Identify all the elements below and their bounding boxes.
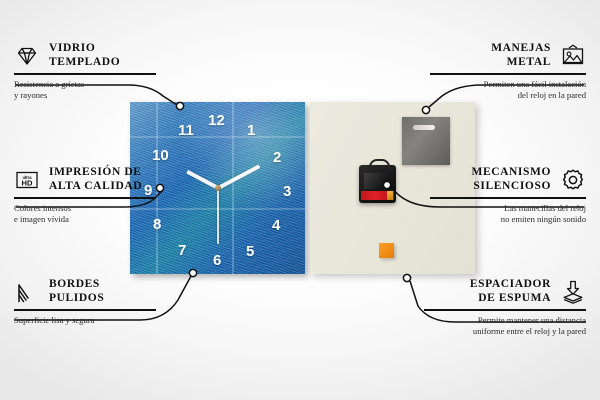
- feature-title: MANEJAS METAL: [491, 42, 551, 69]
- feature-title: IMPRESIÓN DE ALTA CALIDAD: [49, 166, 142, 193]
- feature-rule: [14, 73, 156, 74]
- connector-dot-vidrio-templado: [176, 102, 183, 109]
- feature-rule: [430, 73, 586, 74]
- feature-title: VIDRIO TEMPLADO: [49, 42, 120, 69]
- feature-rule: [430, 197, 586, 198]
- feature-title: BORDES PULIDOS: [49, 278, 104, 305]
- connector-dot-manejas: [422, 106, 429, 113]
- feature-description: Resistencia a grietas y rayones: [14, 79, 164, 102]
- feature-title: MECANISMO SILENCIOSO: [471, 166, 551, 193]
- feature-espaciador-de-espuma[interactable]: ESPACIADOR DE ESPUMA Permite mantener un…: [424, 278, 586, 337]
- connector-dot-mecanismo: [383, 181, 390, 188]
- infographic-canvas: 12 1 2 3 4 5 6 7 8 9 10 11: [0, 0, 600, 400]
- feature-description: Superficie lisa y segura: [14, 315, 164, 326]
- ultra-hd-icon: ultra HD: [14, 167, 40, 193]
- feature-manejas-metal[interactable]: MANEJAS METAL Permiten una fácil instala…: [430, 42, 586, 101]
- framed-picture-icon: [560, 43, 586, 69]
- svg-text:HD: HD: [22, 178, 33, 187]
- feature-mecanismo-silencioso[interactable]: MECANISMO SILENCIOSO Las manecillas del …: [430, 166, 586, 225]
- feature-rule: [424, 309, 586, 310]
- feature-title: ESPACIADOR DE ESPUMA: [470, 278, 551, 305]
- feature-vidrio-templado[interactable]: VIDRIO TEMPLADO Resistencia a grietas y …: [14, 42, 164, 101]
- connector-dot-espaciador: [403, 274, 410, 281]
- feature-description: Permiten una fácil instalación del reloj…: [430, 79, 586, 102]
- gear-icon: [560, 167, 586, 193]
- connector-dot-bordes: [189, 269, 196, 276]
- feature-impresion-alta-calidad[interactable]: ultra HD IMPRESIÓN DE ALTA CALIDAD Color…: [14, 166, 164, 225]
- feature-bordes-pulidos[interactable]: BORDES PULIDOS Superficie lisa y segura: [14, 278, 164, 326]
- feature-description: Colores intensos e imagen vívida: [14, 203, 164, 226]
- feature-description: Permite mantener una distancia uniforme …: [424, 315, 586, 338]
- feature-rule: [14, 309, 156, 310]
- foam-spacer-icon: [560, 279, 586, 305]
- diamond-icon: [14, 43, 40, 69]
- polished-edges-icon: [14, 279, 40, 305]
- feature-rule: [14, 197, 156, 198]
- feature-description: Las manecillas del reloj no emiten ningú…: [430, 203, 586, 226]
